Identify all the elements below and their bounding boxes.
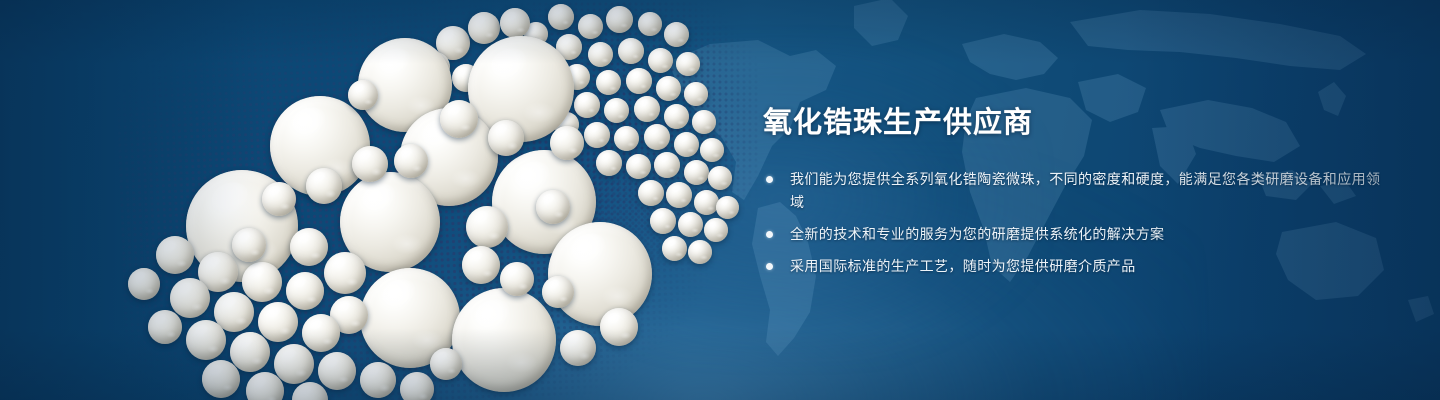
- hero-banner: 氧化锆珠生产供应商 我们能为您提供全系列氧化锆陶瓷微珠，不同的密度和硬度，能满足…: [0, 0, 1440, 400]
- edge-vignette: [0, 0, 1440, 400]
